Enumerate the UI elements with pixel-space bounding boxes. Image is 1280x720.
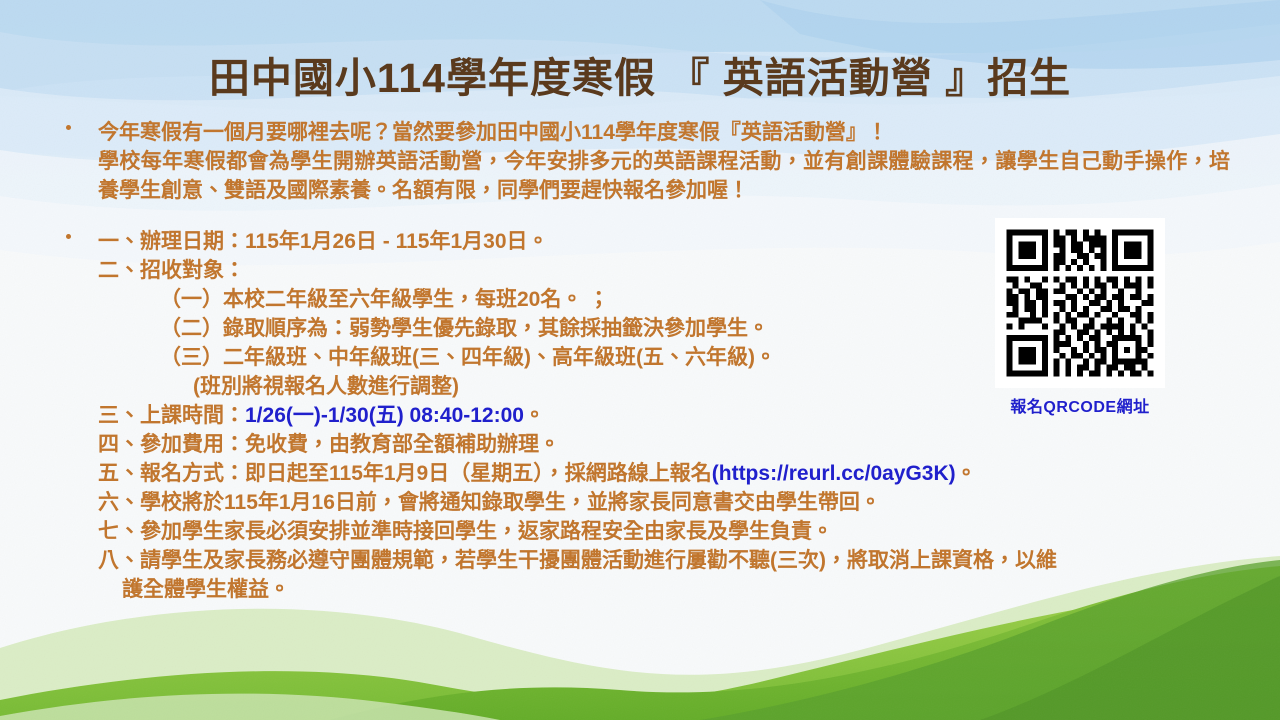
highlight-text[interactable]: (https://reurl.cc/0ayG3K) [712, 462, 956, 485]
detail-line: 一、辦理日期：115年1月26日 - 115年1月30日。 [98, 227, 1230, 256]
details-block: 一、辦理日期：115年1月26日 - 115年1月30日。二、招收對象：（一）本… [60, 227, 1230, 604]
detail-text: 七、參加學生家長必須安排並準時接回學生，返家路程安全由家長及學生負責。 [98, 520, 833, 543]
detail-text: 二、招收對象： [98, 259, 245, 282]
intro-line: 學校每年寒假都會為學生開辦英語活動營，今年安排多元的英語課程活動，並有創課體驗課… [98, 147, 1230, 205]
detail-line: （三）二年級班、中年級班(三、四年級)、高年級班(五、六年級)。 [98, 343, 1230, 372]
detail-text: （三）二年級班、中年級班(三、四年級)、高年級班(五、六年級)。 [160, 346, 776, 369]
detail-text: 護全體學生權益。 [122, 578, 290, 601]
detail-tail: 。 [956, 462, 977, 485]
detail-text: 五、報名方式：即日起至115年1月9日（星期五），採網路線上報名 [98, 462, 712, 485]
detail-text: 八、請學生及家長務必遵守團體規範，若學生干擾團體活動進行屢勸不聽(三次)，將取消… [98, 549, 1057, 572]
poster-slide: 田中國小114學年度寒假 『 英語活動營 』招生 [0, 0, 1280, 720]
detail-line: (班別將視報名人數進行調整) [98, 372, 1230, 401]
detail-text: （一）本校二年級至六年級學生，每班20名。 ； [160, 288, 609, 311]
detail-line: 八、請學生及家長務必遵守團體規範，若學生干擾團體活動進行屢勸不聽(三次)，將取消… [98, 546, 1230, 575]
details-list: 一、辦理日期：115年1月26日 - 115年1月30日。二、招收對象：（一）本… [60, 227, 1230, 604]
intro-line: 今年寒假有一個月要哪裡去呢？當然要參加田中國小114學年度寒假『英語活動營』！ [98, 118, 1230, 147]
detail-tail: 。 [524, 404, 545, 427]
detail-line: 七、參加學生家長必須安排並準時接回學生，返家路程安全由家長及學生負責。 [98, 517, 1230, 546]
intro-block: 今年寒假有一個月要哪裡去呢？當然要參加田中國小114學年度寒假『英語活動營』！ … [60, 118, 1230, 205]
detail-line: 三、上課時間：1/26(一)-1/30(五) 08:40-12:00。 [98, 401, 1230, 430]
detail-text: 四、參加費用：免收費，由教育部全額補助辦理。 [98, 433, 560, 456]
detail-line: 二、招收對象： [98, 256, 1230, 285]
bullet-icon [66, 125, 71, 130]
detail-text: 三、上課時間： [98, 404, 245, 427]
detail-line: 護全體學生權益。 [98, 575, 1230, 604]
bullet-icon [66, 234, 71, 239]
detail-line: （一）本校二年級至六年級學生，每班20名。 ； [98, 285, 1230, 314]
detail-text: 六、學校將於115年1月16日前，會將通知錄取學生，並將家長同意書交由學生帶回。 [98, 491, 881, 514]
highlight-text[interactable]: 1/26(一)-1/30(五) 08:40-12:00 [245, 404, 524, 427]
detail-line: 五、報名方式：即日起至115年1月9日（星期五），採網路線上報名(https:/… [98, 459, 1230, 488]
detail-text: 一、辦理日期：115年1月26日 - 115年1月30日。 [98, 230, 549, 253]
page-title: 田中國小114學年度寒假 『 英語活動營 』招生 [0, 44, 1280, 104]
detail-line: 四、參加費用：免收費，由教育部全額補助辦理。 [98, 430, 1230, 459]
intro-paragraph: 今年寒假有一個月要哪裡去呢？當然要參加田中國小114學年度寒假『英語活動營』！ … [60, 118, 1230, 205]
body-content: 今年寒假有一個月要哪裡去呢？當然要參加田中國小114學年度寒假『英語活動營』！ … [60, 118, 1230, 604]
detail-line: 六、學校將於115年1月16日前，會將通知錄取學生，並將家長同意書交由學生帶回。 [98, 488, 1230, 517]
detail-line: （二）錄取順序為：弱勢學生優先錄取，其餘採抽籤決參加學生。 [98, 314, 1230, 343]
detail-text: (班別將視報名人數進行調整) [193, 375, 459, 398]
detail-text: （二）錄取順序為：弱勢學生優先錄取，其餘採抽籤決參加學生。 [160, 317, 769, 340]
